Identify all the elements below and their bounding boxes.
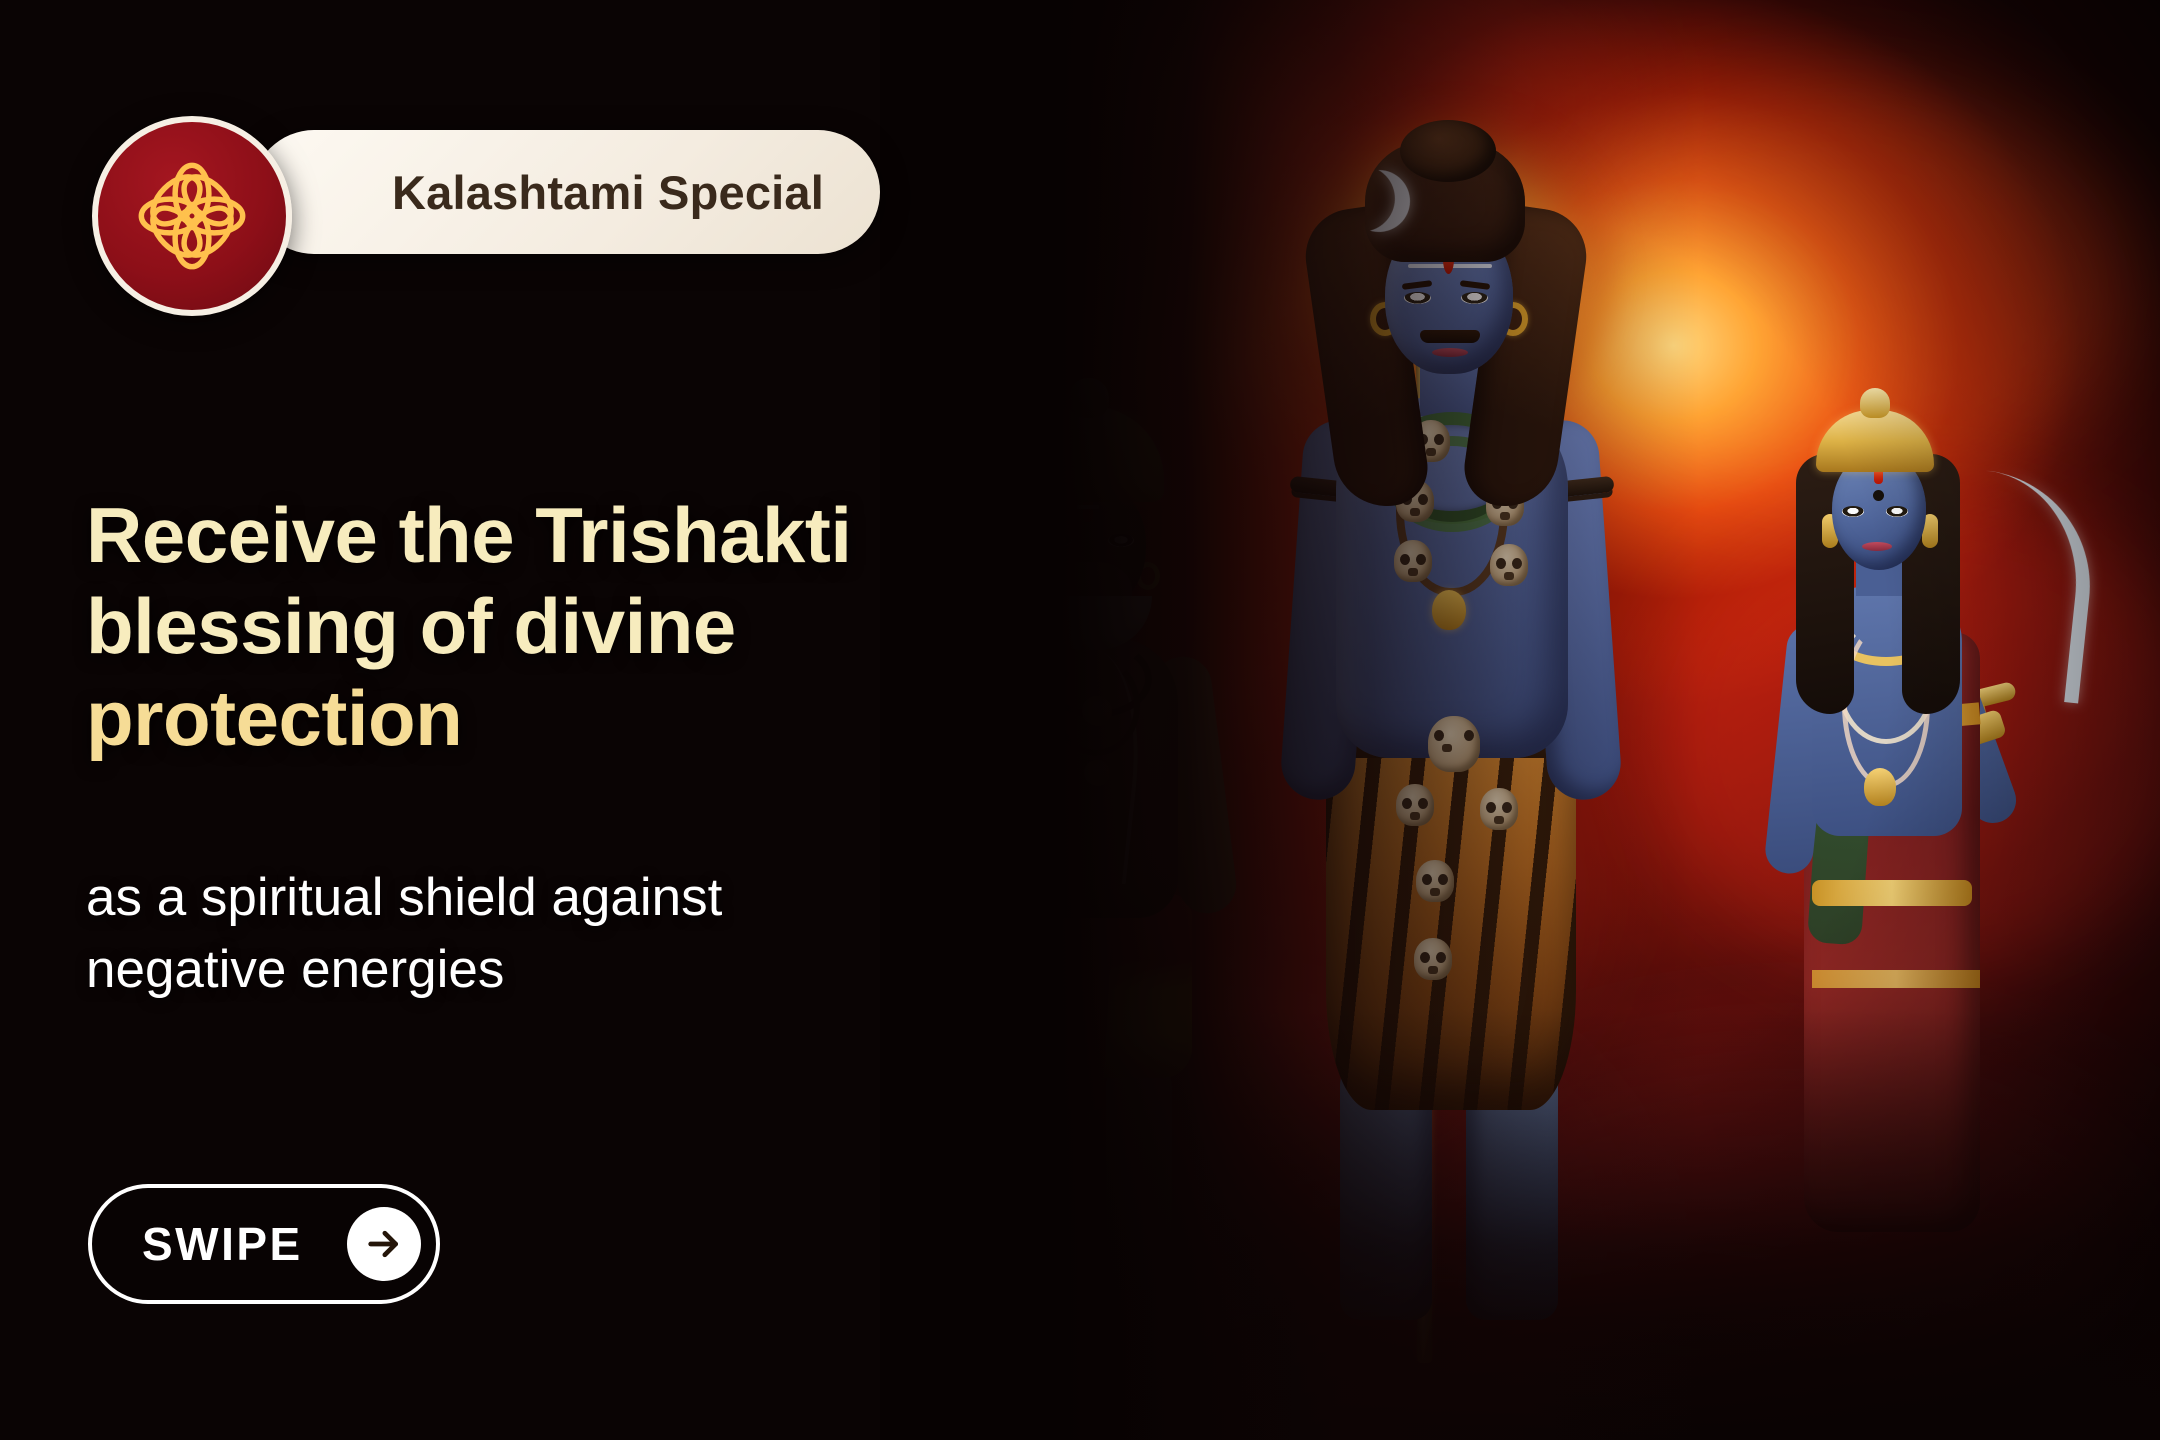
left-fade-overlay bbox=[880, 0, 2160, 1440]
badge-pill[interactable]: Kalashtami Special bbox=[252, 130, 880, 254]
subhead-line-2: negative energies bbox=[86, 934, 986, 1006]
brand-logo bbox=[92, 116, 292, 316]
headline-line-2: blessing of divine bbox=[86, 581, 1006, 672]
swipe-button[interactable]: SWIPE bbox=[88, 1184, 440, 1304]
deity-artwork bbox=[880, 0, 2160, 1440]
subhead-line-1: as a spiritual shield against bbox=[86, 862, 986, 934]
page-title: Receive the Trishakti blessing of divine… bbox=[86, 490, 1006, 764]
promo-banner: Kalashtami Special bbox=[0, 0, 2160, 1440]
lotus-mandala-icon bbox=[127, 151, 257, 281]
subtitle: as a spiritual shield against negative e… bbox=[86, 862, 986, 1006]
badge-label: Kalashtami Special bbox=[392, 165, 824, 220]
arrow-right-icon[interactable] bbox=[347, 1207, 421, 1281]
headline-line-1: Receive the Trishakti bbox=[86, 490, 1006, 581]
content-panel: Kalashtami Special bbox=[0, 0, 1060, 1440]
headline-line-3: protection bbox=[86, 673, 1006, 764]
arrow-right-glyph bbox=[364, 1224, 404, 1264]
swipe-label: SWIPE bbox=[142, 1217, 303, 1271]
